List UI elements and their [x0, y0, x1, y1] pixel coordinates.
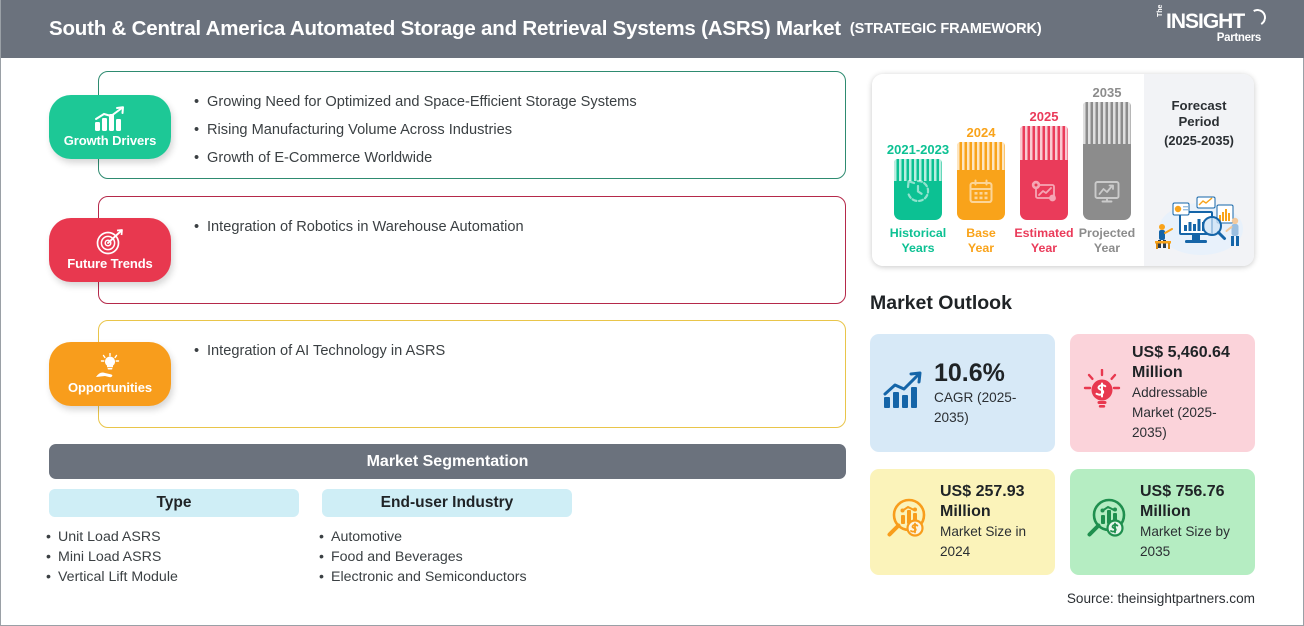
- bar-solid-body: [1083, 144, 1131, 220]
- growth-drivers-list: Growing Need for Optimized and Space-Eff…: [194, 88, 845, 172]
- outlook-card-text: 10.6% CAGR (2025-2035): [934, 358, 1043, 428]
- panel-growth-drivers: Growing Need for Optimized and Space-Eff…: [98, 71, 846, 179]
- forecast-bars-area: 2021-2023 HistoricalYears: [872, 74, 1144, 266]
- forecast-bar-historical: 2021-2023 HistoricalYears: [894, 137, 942, 256]
- forecast-bar-projected: 2035 ProjectedYea: [1083, 80, 1131, 256]
- forecast-period-range: (2025-2035): [1144, 133, 1254, 148]
- list-item: Growing Need for Optimized and Space-Eff…: [194, 88, 845, 116]
- calendar-icon: [969, 179, 994, 209]
- bar-solid-body: [1020, 160, 1068, 220]
- bar-solid-body: [957, 170, 1005, 220]
- bar-stripe-top: [957, 142, 1005, 170]
- opportunities-list: Integration of AI Technology in ASRS: [194, 337, 845, 365]
- forecast-period-panel: Forecast Period (2025-2035): [1144, 74, 1254, 266]
- outlook-card-addressable-market[interactable]: US$ 5,460.64 Million Addressable Market …: [1070, 334, 1255, 452]
- forecast-bar-shape: [1020, 126, 1068, 220]
- list-item: Food and Beverages: [319, 547, 527, 567]
- badge-label: Future Trends: [67, 256, 152, 271]
- target-dart-icon: [95, 229, 125, 255]
- forecast-bar-shape: [957, 142, 1005, 220]
- badge-label: Growth Drivers: [64, 133, 157, 148]
- outlook-card-value: US$ 756.76 Million: [1140, 482, 1243, 522]
- forecast-title-line1: Forecast: [1172, 98, 1227, 113]
- badge-opportunities[interactable]: Opportunities: [49, 342, 171, 406]
- market-segmentation-title: Market Segmentation: [367, 453, 529, 471]
- list-item: Vertical Lift Module: [46, 567, 178, 587]
- list-item: Automotive: [319, 527, 527, 547]
- outlook-card-market-size-2035[interactable]: US$ 756.76 Million Market Size by 2035: [1070, 469, 1255, 575]
- badge-future-trends[interactable]: Future Trends: [49, 218, 171, 282]
- segment-column-header-enduser: End-user Industry: [322, 489, 572, 517]
- outlook-card-value: US$ 257.93 Million: [940, 482, 1043, 522]
- list-item: Rising Manufacturing Volume Across Indus…: [194, 116, 845, 144]
- panel-opportunities: Integration of AI Technology in ASRS: [98, 320, 846, 428]
- outlook-card-caption: CAGR (2025-2035): [934, 388, 1043, 428]
- forecast-bar-caption: HistoricalYears: [890, 226, 946, 256]
- forecast-timeline-card: 2021-2023 HistoricalYears: [872, 74, 1254, 266]
- hand-lightbulb-icon: [93, 353, 127, 379]
- logo-arc-icon: [1247, 7, 1268, 28]
- forecast-bar-year-label: 2024: [967, 125, 996, 140]
- magnifier-chart-dollar-icon: [882, 497, 930, 548]
- forecast-bar-base: 2024 BaseYear: [957, 120, 1005, 256]
- outlook-card-value: 10.6%: [934, 358, 1043, 388]
- list-item: Mini Load ASRS: [46, 547, 178, 567]
- list-item: Electronic and Semiconductors: [319, 567, 527, 587]
- infographic-page: South & Central America Automated Storag…: [0, 0, 1304, 626]
- future-trends-list: Integration of Robotics in Warehouse Aut…: [194, 213, 845, 241]
- list-item: Integration of Robotics in Warehouse Aut…: [194, 213, 845, 241]
- outlook-card-text: US$ 257.93 Million Market Size in 2024: [940, 482, 1043, 562]
- forecast-bar-year-label: 2025: [1030, 109, 1059, 124]
- forecast-title-line2: Period: [1178, 114, 1219, 129]
- page-subtitle: (STRATEGIC FRAMEWORK): [850, 21, 1042, 37]
- outlook-card-caption: Market Size in 2024: [940, 522, 1043, 562]
- lightbulb-dollar-icon: [1082, 369, 1122, 418]
- badge-growth-drivers[interactable]: Growth Drivers: [49, 95, 171, 159]
- insight-partners-logo: The INSIGHT Partners: [1157, 8, 1267, 50]
- panel-future-trends: Integration of Robotics in Warehouse Aut…: [98, 196, 846, 304]
- market-segmentation-header: Market Segmentation: [49, 444, 846, 479]
- forecast-bar-year-label: 2021-2023: [887, 142, 949, 157]
- forecast-bar-caption: ProjectedYear: [1079, 226, 1135, 256]
- outlook-card-caption: Addressable Market (2025-2035): [1132, 383, 1243, 443]
- logo-the-text: The: [1157, 5, 1164, 17]
- outlook-card-caption: Market Size by 2035: [1140, 522, 1243, 562]
- forecast-bar-shape: [1083, 102, 1131, 220]
- segment-column-header-type: Type: [49, 489, 299, 517]
- segment-list-type: Unit Load ASRS Mini Load ASRS Vertical L…: [46, 527, 178, 587]
- logo-insight-text: INSIGHT: [1166, 10, 1244, 34]
- outlook-card-text: US$ 5,460.64 Million Addressable Market …: [1132, 343, 1243, 443]
- forecast-bar-shape: [894, 159, 942, 220]
- outlook-card-text: US$ 756.76 Million Market Size by 2035: [1140, 482, 1243, 562]
- bar-chart-growth-icon: [93, 106, 127, 132]
- settings-chart-icon: [1030, 179, 1058, 209]
- source-attribution: Source: theinsightpartners.com: [1067, 591, 1255, 606]
- forecast-bar-year-label: 2035: [1093, 85, 1122, 100]
- page-header: South & Central America Automated Storag…: [1, 0, 1304, 58]
- forecast-bar-estimated: 2025: [1020, 104, 1068, 256]
- forecast-period-title: Forecast Period: [1144, 98, 1254, 130]
- bar-stripe-top: [1083, 102, 1131, 144]
- magnifier-chart-dollar-icon: [1082, 497, 1130, 548]
- outlook-card-market-size-2024[interactable]: US$ 257.93 Million Market Size in 2024: [870, 469, 1055, 575]
- logo-partners-text: Partners: [1217, 32, 1261, 44]
- bar-solid-body: [894, 181, 942, 220]
- page-title: South & Central America Automated Storag…: [49, 17, 841, 41]
- segment-list-enduser: Automotive Food and Beverages Electronic…: [319, 527, 527, 587]
- list-item: Unit Load ASRS: [46, 527, 178, 547]
- forecast-bar-caption: BaseYear: [966, 226, 996, 256]
- badge-label: Opportunities: [68, 380, 152, 395]
- list-item: Growth of E-Commerce Worldwide: [194, 144, 845, 172]
- segment-column-title: Type: [156, 494, 191, 512]
- bar-stripe-top: [1020, 126, 1068, 160]
- market-outlook-title: Market Outlook: [870, 292, 1012, 315]
- history-clock-icon: [905, 178, 931, 209]
- analytics-team-illustration: [1149, 189, 1249, 260]
- outlook-card-value: US$ 5,460.64 Million: [1132, 343, 1243, 383]
- list-item: Integration of AI Technology in ASRS: [194, 337, 845, 365]
- monitor-chart-icon: [1094, 179, 1121, 209]
- outlook-card-cagr[interactable]: 10.6% CAGR (2025-2035): [870, 334, 1055, 452]
- forecast-bar-caption: EstimatedYear: [1014, 226, 1073, 256]
- segment-column-title: End-user Industry: [381, 494, 514, 512]
- growth-bar-arrow-icon: [882, 371, 924, 416]
